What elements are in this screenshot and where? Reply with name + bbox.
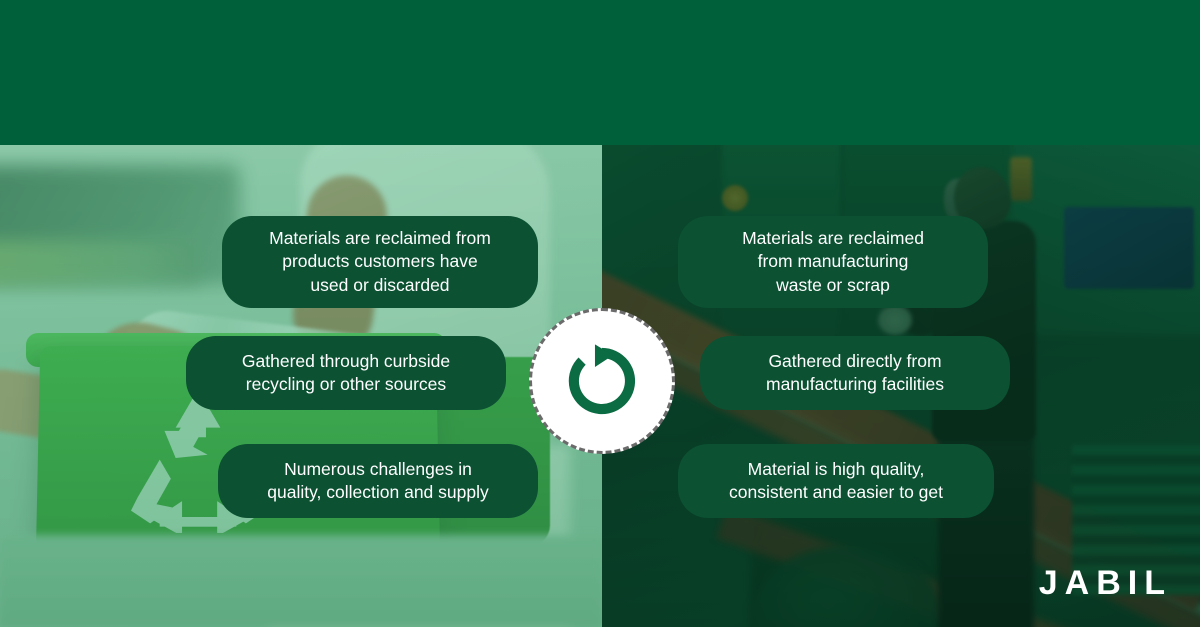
- post-industrial-point-1: Materials are reclaimed from manufacturi…: [678, 216, 988, 308]
- infographic-canvas: HOW ARE POST-CONSUMER MATERIALS DIFFEREN…: [0, 0, 1200, 627]
- post-consumer-point-1: Materials are reclaimed from products cu…: [222, 216, 538, 308]
- post-industrial-point-2: Gathered directly from manufacturing fac…: [700, 336, 1010, 410]
- recycle-loop-icon: [563, 342, 641, 420]
- header-band: [0, 0, 1200, 145]
- jabil-logo: JABIL: [1039, 564, 1172, 603]
- post-consumer-point-3: Numerous challenges in quality, collecti…: [218, 444, 538, 518]
- center-badge: [529, 308, 675, 454]
- post-consumer-point-2: Gathered through curbside recycling or o…: [186, 336, 506, 410]
- post-industrial-point-3: Material is high quality, consistent and…: [678, 444, 994, 518]
